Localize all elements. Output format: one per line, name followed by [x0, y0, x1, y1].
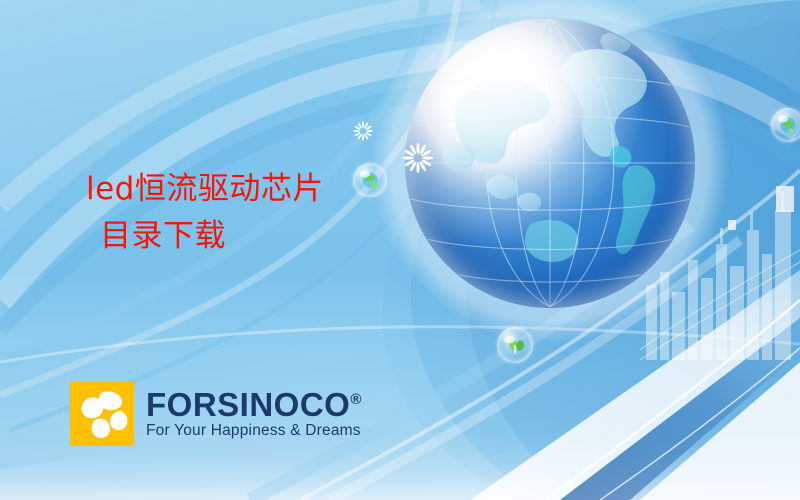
- globe-graphic: [405, 18, 695, 308]
- headline-text: led恒流驱动芯片 目录下载: [86, 166, 416, 260]
- registered-trademark-symbol: ®: [350, 391, 361, 408]
- headline-line-2: 目录下载: [86, 213, 416, 260]
- four-petal-pinwheel-icon: [70, 382, 134, 446]
- company-logo[interactable]: FORSINOCO® For Your Happiness & Dreams: [70, 382, 361, 446]
- logo-tagline: For Your Happiness & Dreams: [146, 422, 361, 440]
- bubble-earth-icon: [771, 108, 800, 142]
- headline-line-1: led恒流驱动芯片: [86, 171, 324, 207]
- bubble-leaf-icon: [497, 327, 533, 363]
- starburst-flower-icon: [353, 121, 373, 141]
- logo-text-block: FORSINOCO® For Your Happiness & Dreams: [146, 388, 361, 441]
- globe-rim: [405, 18, 695, 308]
- promotional-banner: led恒流驱动芯片 目录下载 FORSINOCO® For Your Happi…: [0, 0, 800, 500]
- logo-wordmark: FORSINOCO®: [146, 388, 361, 422]
- logo-wordmark-text: FORSINOCO: [146, 386, 350, 423]
